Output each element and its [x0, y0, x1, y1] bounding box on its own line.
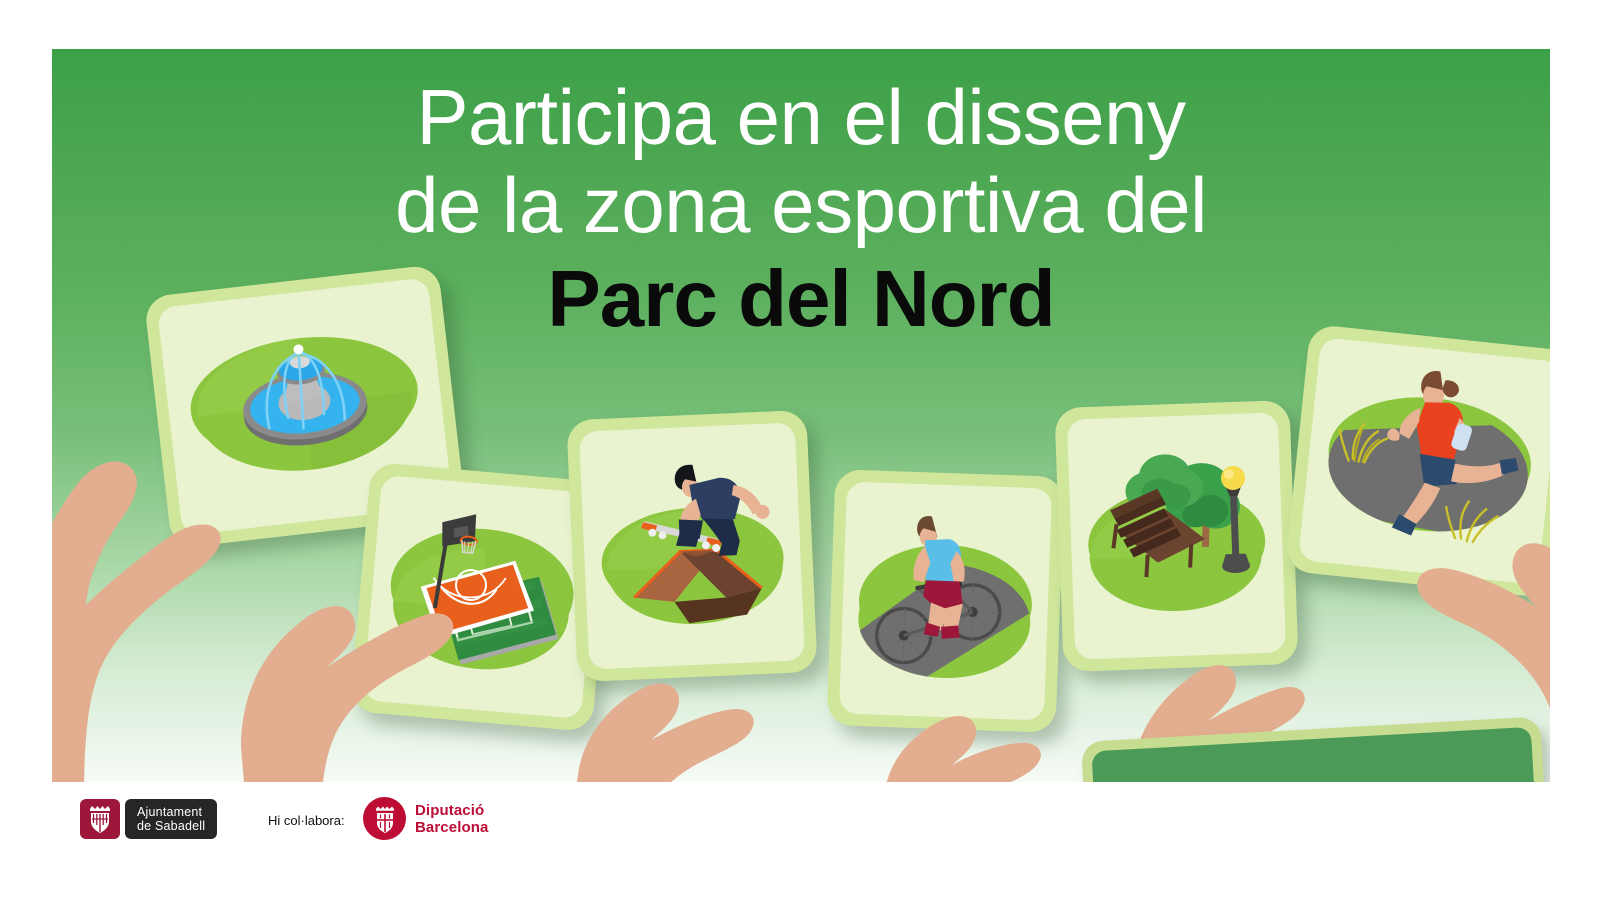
diputacio-coat-of-arms-icon — [363, 797, 406, 840]
hand-center-right — [822, 649, 1102, 782]
hand-left-inner — [207, 519, 537, 782]
logo-ajuntament-sabadell[interactable]: Ajuntament de Sabadell — [80, 799, 217, 839]
ajuntament-line-1: Ajuntament — [137, 805, 205, 819]
hand-center-left — [527, 594, 817, 782]
diputacio-name: Diputació Barcelona — [415, 802, 488, 836]
headline-line-2: de la zona esportiva del — [52, 161, 1550, 249]
ajuntament-line-2: de Sabadell — [137, 819, 205, 833]
logo-diputacio-barcelona[interactable]: Diputació Barcelona — [363, 797, 488, 840]
headline-line-1: Participa en el disseny — [52, 73, 1550, 161]
diputacio-line-2: Barcelona — [415, 819, 488, 836]
sabadell-coat-of-arms-icon — [80, 799, 120, 839]
ajuntament-name-plate: Ajuntament de Sabadell — [125, 799, 217, 839]
poster-root: Participa en el disseny de la zona espor… — [0, 0, 1600, 900]
diputacio-line-1: Diputació — [415, 802, 488, 819]
cta-line-1: Fes la teva — [1195, 776, 1435, 782]
footer-logos: Ajuntament de Sabadell Hi col·labora: Di… — [0, 782, 1600, 900]
illustration-area: Participa en el disseny de la zona espor… — [52, 49, 1550, 782]
collaborator-label: Hi col·labora: — [268, 813, 345, 828]
